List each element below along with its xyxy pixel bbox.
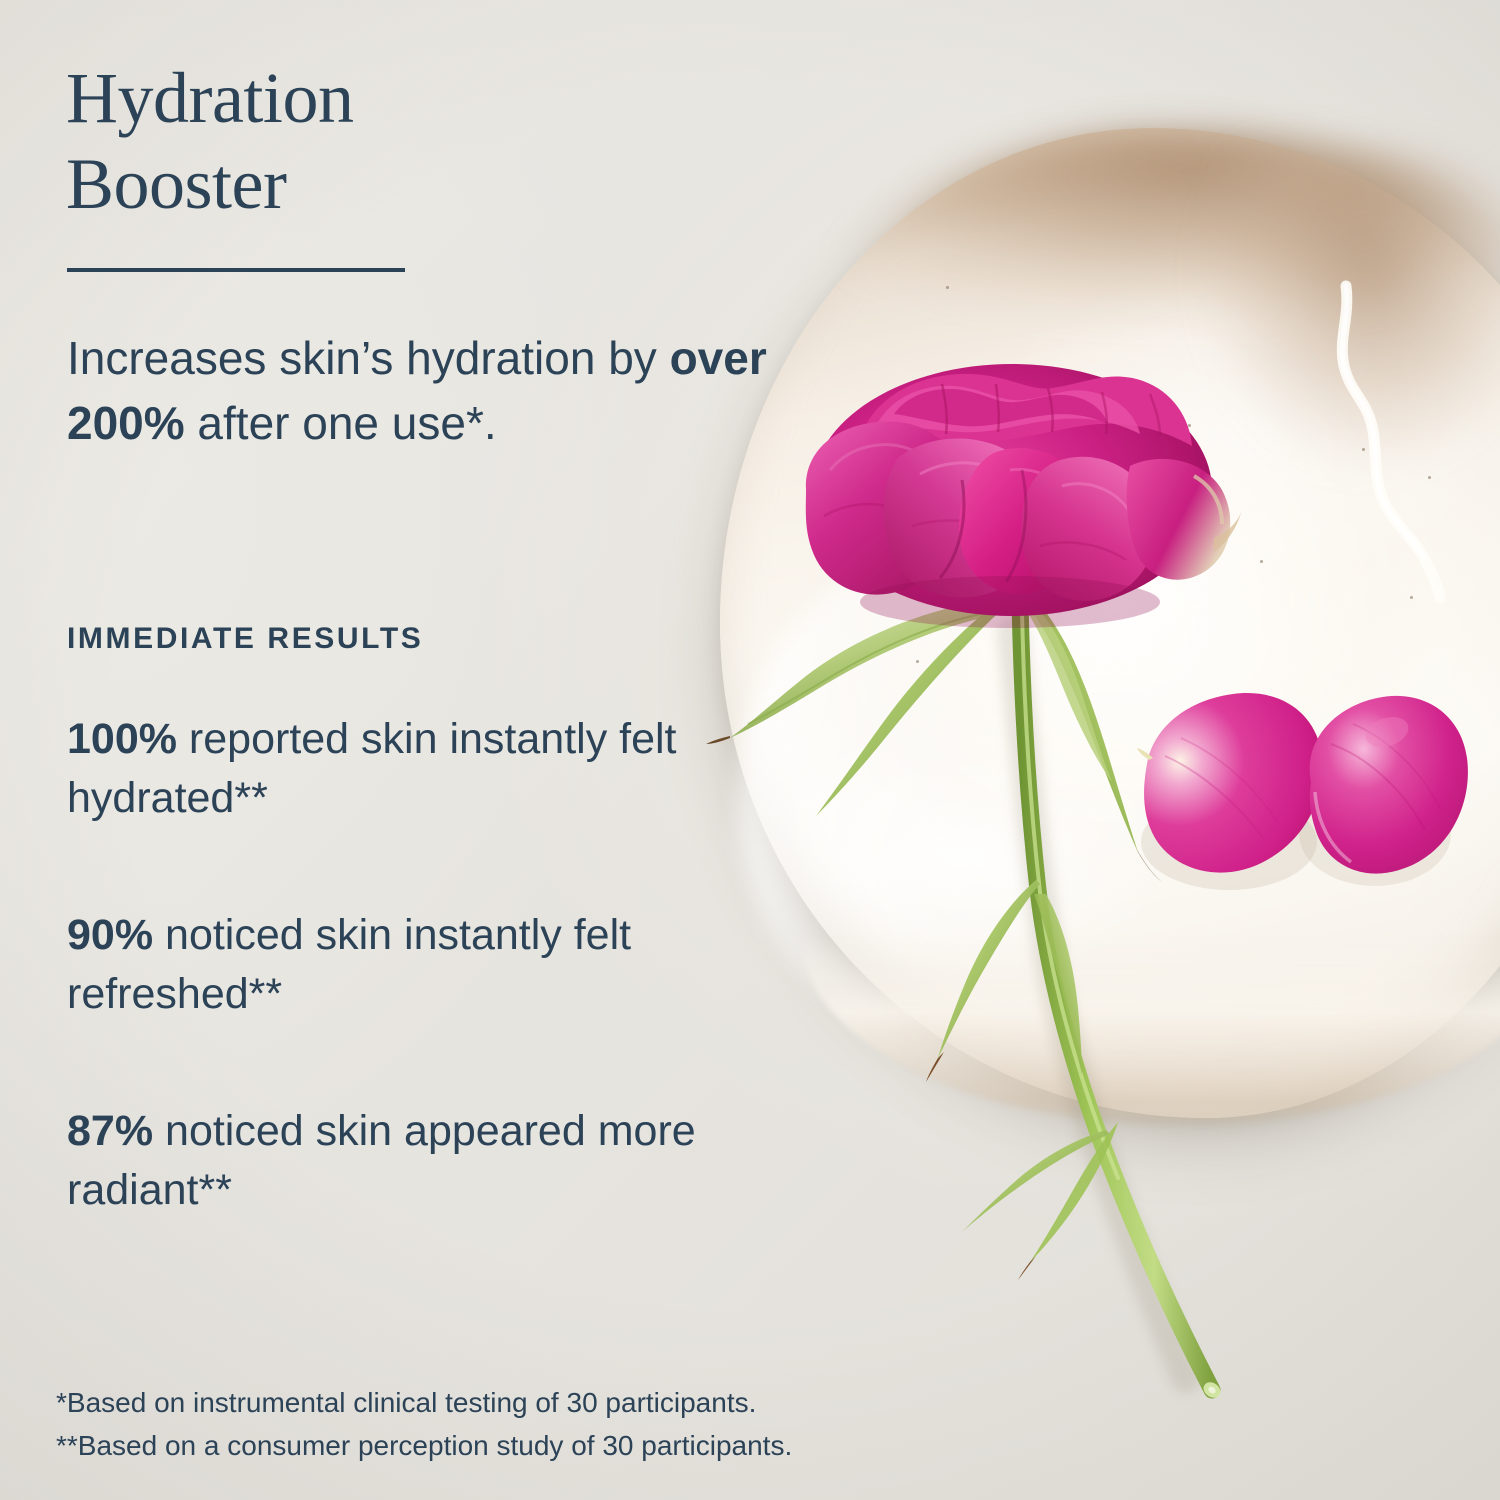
product-title-line-2: Booster [66, 142, 626, 228]
rose-bloom-icon [790, 340, 1250, 640]
result-stat-2-value: 90% [67, 911, 153, 959]
dish-speck [1410, 596, 1413, 599]
result-stat-1-value: 100% [67, 715, 177, 763]
result-stat-3-value: 87% [67, 1107, 153, 1155]
result-stat-1: 100% reported skin instantly felt hydrat… [67, 710, 767, 829]
result-stat-2: 90% noticed skin instantly felt refreshe… [67, 906, 767, 1025]
dish-bottom-edge [800, 935, 1500, 1125]
primary-claim-part-2: after one use*. [185, 397, 497, 449]
title-divider [67, 268, 405, 272]
product-claim-graphic: Hydration Booster Increases skin’s hydra… [0, 0, 1500, 1500]
primary-claim-part-1: Increases skin’s hydration by [67, 332, 670, 384]
rose-bloom [790, 340, 1250, 640]
results-heading: IMMEDIATE RESULTS [67, 622, 423, 656]
loose-rose-petals [1125, 672, 1475, 922]
result-stat-3-text: noticed skin appeared more radiant** [67, 1107, 696, 1214]
dish-speck [946, 286, 949, 289]
dish-speck [916, 660, 919, 663]
page-title: Hydration Booster [66, 56, 626, 227]
result-stat-3: 87% noticed skin appeared more radiant** [67, 1102, 767, 1221]
liquid-streak-icon [1320, 280, 1470, 600]
loose-petals-icon [1125, 672, 1475, 922]
footnote-2: **Based on a consumer perception study o… [56, 1425, 792, 1468]
primary-claim: Increases skin’s hydration by over 200% … [67, 326, 767, 457]
footnotes: *Based on instrumental clinical testing … [56, 1382, 792, 1467]
product-title-line-1: Hydration [66, 56, 626, 142]
dish-speck [1428, 476, 1431, 479]
claims-text-column: Hydration Booster Increases skin’s hydra… [0, 0, 780, 1500]
dish-speck [1260, 560, 1263, 563]
dish-speck [1362, 448, 1365, 451]
footnote-1: *Based on instrumental clinical testing … [56, 1382, 792, 1425]
